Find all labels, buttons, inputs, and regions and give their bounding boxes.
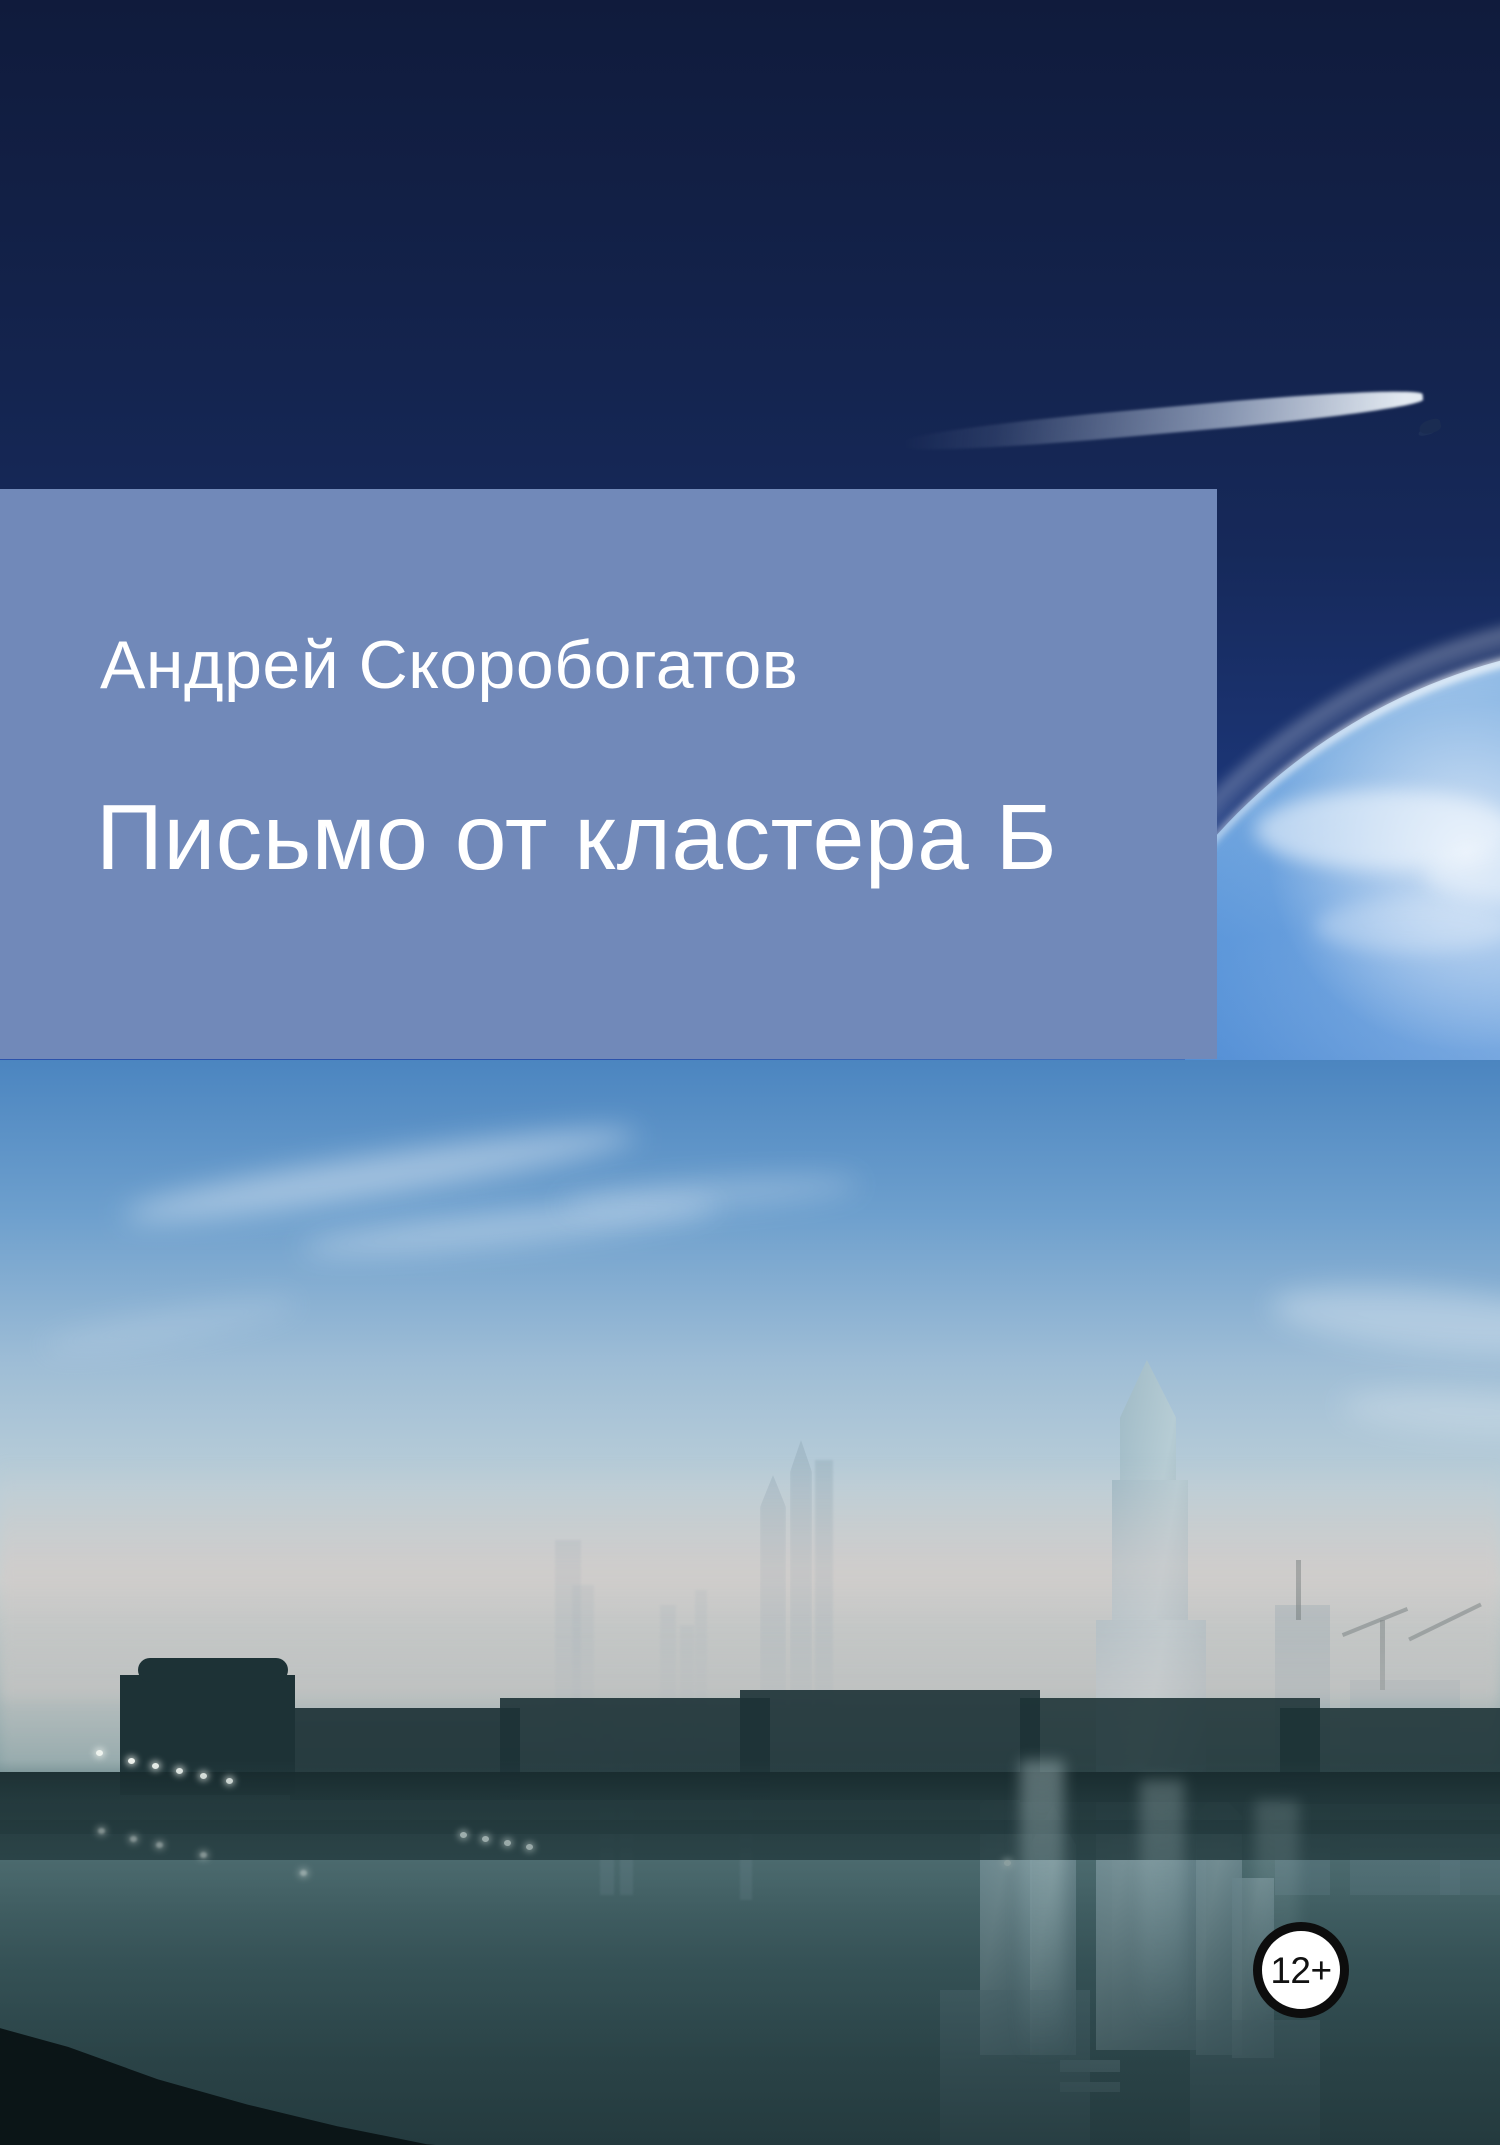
light-reflection-column bbox=[1140, 1780, 1184, 2030]
crane-jib bbox=[1342, 1607, 1408, 1637]
waterfront-rooftop bbox=[138, 1658, 288, 1682]
distant-tower bbox=[815, 1460, 833, 1708]
crane-mast bbox=[1296, 1560, 1301, 1620]
water-reflection-light bbox=[300, 1870, 307, 1876]
cloud-wisp bbox=[559, 1170, 860, 1219]
light-reflection-column bbox=[1020, 1760, 1064, 2060]
book-cover: Андрей Скоробогатов Письмо от кластера Б… bbox=[0, 0, 1500, 2145]
crane-jib bbox=[1408, 1603, 1482, 1642]
water-reflection-light bbox=[156, 1842, 163, 1848]
age-rating-label: 12+ bbox=[1270, 1952, 1331, 1989]
earth-cloud-patch bbox=[1315, 900, 1500, 952]
water-reflection-light bbox=[130, 1836, 137, 1842]
cloud-wisp bbox=[1268, 1276, 1500, 1365]
distant-tower bbox=[790, 1440, 812, 1708]
crane-mast bbox=[1380, 1620, 1385, 1690]
title-overlay-panel bbox=[0, 489, 1217, 1059]
age-rating-badge: 12+ bbox=[1253, 1922, 1349, 2018]
quay-light bbox=[96, 1750, 103, 1756]
distant-tower bbox=[760, 1475, 786, 1705]
water-reflection-light bbox=[200, 1852, 207, 1858]
author-name: Андрей Скоробогатов bbox=[100, 631, 798, 699]
cloud-wisp bbox=[39, 1288, 300, 1363]
book-title: Письмо от кластера Б bbox=[96, 791, 1057, 884]
cloud-wisp bbox=[1339, 1383, 1500, 1441]
water-reflection-light bbox=[98, 1828, 105, 1834]
